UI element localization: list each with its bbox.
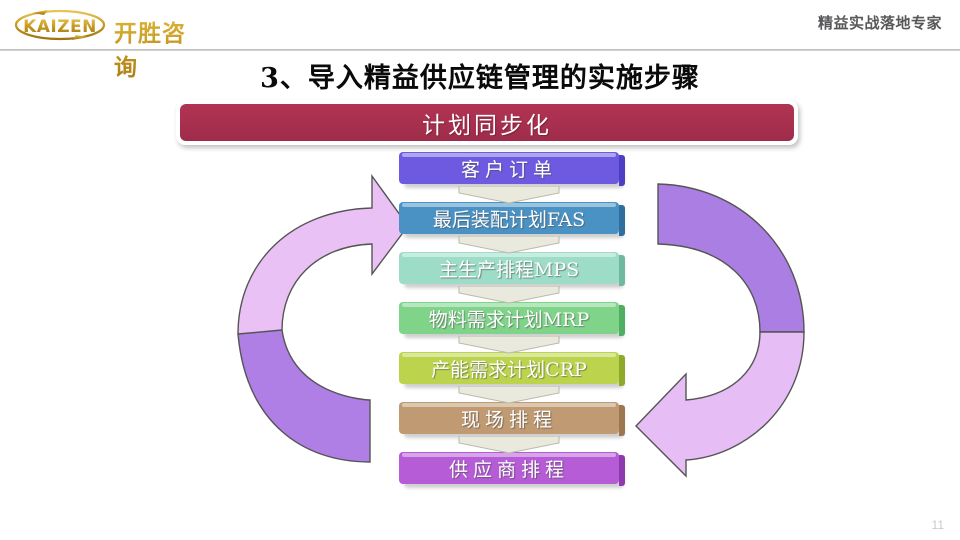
flow-connector-arrow-icon <box>445 336 573 354</box>
flow-connector-arrow-icon <box>445 286 573 304</box>
flow-connector-arrow-icon <box>445 436 573 454</box>
flow-step-label: 产能需求计划CRP <box>431 355 587 382</box>
flow-step-body: 物料需求计划MRP <box>399 302 619 334</box>
flow-step-label: 供应商排程 <box>449 455 569 482</box>
flow-step-side <box>619 405 625 436</box>
flow-connector-arrow-icon <box>445 386 573 404</box>
svg-text:KAIZEN: KAIZEN <box>23 17 97 37</box>
flow-step-side <box>619 305 625 336</box>
flow-step-body: 产能需求计划CRP <box>399 352 619 384</box>
flow-step-body: 最后装配计划FAS <box>399 202 619 234</box>
flow-step-body: 主生产排程MPS <box>399 252 619 284</box>
flow-step-label: 物料需求计划MRP <box>429 305 590 332</box>
flow-step-label: 客户订单 <box>461 155 557 182</box>
flow-step-body: 客户订单 <box>399 152 619 184</box>
flow-step-fas[interactable]: 最后装配计划FAS <box>399 202 625 236</box>
flow-step-body: 供应商排程 <box>399 452 619 484</box>
flow-step-label: 现场排程 <box>461 405 557 432</box>
flow-step-label: 主生产排程MPS <box>439 255 579 282</box>
curved-arrow-up-right-icon <box>232 162 412 480</box>
flow-step-supplier-schedule[interactable]: 供应商排程 <box>399 452 625 486</box>
section-banner-label: 计划同步化 <box>422 106 552 140</box>
flow-step-side <box>619 255 625 286</box>
page-number: 11 <box>932 518 944 532</box>
flow-step-body: 现场排程 <box>399 402 619 434</box>
page-title: 3、导入精益供应链管理的实施步骤 <box>0 56 960 95</box>
flow-step-side <box>619 355 625 386</box>
section-banner: 计划同步化 <box>176 100 798 145</box>
kaizen-logo: KAIZEN 开胜咨询 <box>14 6 204 44</box>
flow-step-mrp[interactable]: 物料需求计划MRP <box>399 302 625 336</box>
flow-step-side <box>619 205 625 236</box>
flow-connector-arrow-icon <box>445 186 573 204</box>
flow-step-crp[interactable]: 产能需求计划CRP <box>399 352 625 386</box>
process-flow: 客户订单 最后装配计划FAS 主生产排程MPS <box>399 152 631 502</box>
slide: KAIZEN 开胜咨询 精益实战落地专家 3、导入精益供应链管理的实施步骤 计划… <box>0 0 960 540</box>
flow-step-mps[interactable]: 主生产排程MPS <box>399 252 625 286</box>
flow-step-side <box>619 455 625 486</box>
flow-step-shopfloor-schedule[interactable]: 现场排程 <box>399 402 625 436</box>
curved-arrow-down-left-icon <box>630 162 810 480</box>
section-banner-fill: 计划同步化 <box>180 104 794 141</box>
slide-header: KAIZEN 开胜咨询 精益实战落地专家 <box>0 0 960 50</box>
flow-step-side <box>619 155 625 186</box>
flow-step-customer-order[interactable]: 客户订单 <box>399 152 625 186</box>
flow-connector-arrow-icon <box>445 236 573 254</box>
header-tagline: 精益实战落地专家 <box>818 12 942 33</box>
flow-step-label: 最后装配计划FAS <box>433 205 585 232</box>
header-divider <box>0 49 960 51</box>
